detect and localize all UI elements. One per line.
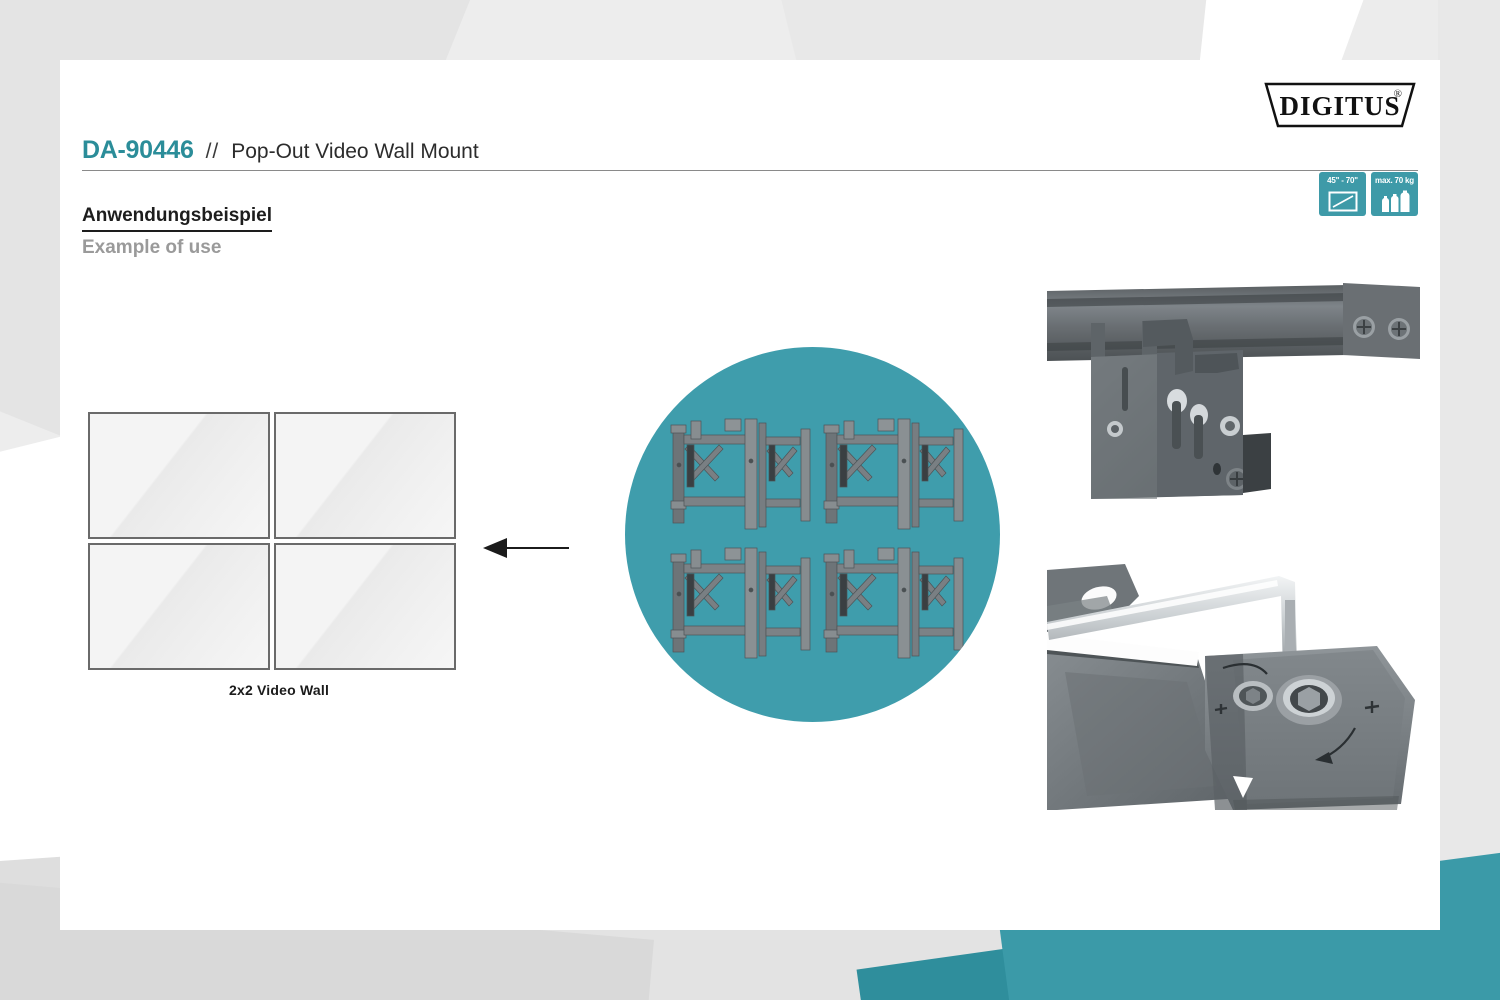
mount-bracket bbox=[667, 415, 814, 540]
content-card: DIGITUS ® DA-90446 // Pop-Out Video Wall… bbox=[60, 60, 1440, 930]
photo-bracket-rail-closeup bbox=[1047, 283, 1420, 515]
video-wall-grid bbox=[88, 412, 470, 670]
spec-badges: 45" - 70" max. 70 kg bbox=[1319, 172, 1418, 216]
product-code: DA-90446 bbox=[82, 136, 194, 165]
badge-screen-size-label: 45" - 70" bbox=[1319, 176, 1366, 186]
registered-trademark-icon: ® bbox=[1394, 88, 1402, 100]
left-arrow-icon bbox=[483, 538, 569, 558]
screen-diagonal-icon bbox=[1319, 188, 1366, 212]
video-wall-panel bbox=[274, 543, 456, 670]
arrow-head bbox=[483, 538, 507, 558]
badge-screen-size: 45" - 70" bbox=[1319, 172, 1366, 216]
section-heading-de: Anwendungsbeispiel bbox=[82, 205, 272, 232]
title-divider bbox=[82, 170, 1418, 171]
video-wall-panel bbox=[274, 412, 456, 539]
badge-max-load-label: max. 70 kg bbox=[1371, 176, 1418, 186]
mount-bracket bbox=[820, 544, 967, 669]
page-root: DIGITUS ® DA-90446 // Pop-Out Video Wall… bbox=[0, 0, 1500, 1000]
video-wall-caption: 2x2 Video Wall bbox=[88, 682, 470, 698]
bg-grey-column-right bbox=[1438, 0, 1500, 1000]
photo-hex-key-adjustment-closeup bbox=[1047, 560, 1420, 810]
arrow-shaft bbox=[505, 547, 569, 549]
weights-icon bbox=[1371, 188, 1418, 212]
mount-array-circle bbox=[625, 347, 1000, 722]
mount-bracket bbox=[820, 415, 967, 540]
video-wall-diagram: 2x2 Video Wall bbox=[88, 412, 470, 698]
video-wall-panel bbox=[88, 543, 270, 670]
video-wall-panel bbox=[88, 412, 270, 539]
title-separator: // bbox=[206, 140, 220, 164]
mount-bracket bbox=[667, 544, 814, 669]
section-heading-en: Example of use bbox=[82, 237, 221, 259]
badge-max-load: max. 70 kg bbox=[1371, 172, 1418, 216]
digitus-logo: DIGITUS ® bbox=[1262, 80, 1418, 130]
mount-grid bbox=[667, 415, 967, 661]
product-name: Pop-Out Video Wall Mount bbox=[231, 140, 478, 164]
page-title: DA-90446 // Pop-Out Video Wall Mount bbox=[82, 136, 1418, 173]
